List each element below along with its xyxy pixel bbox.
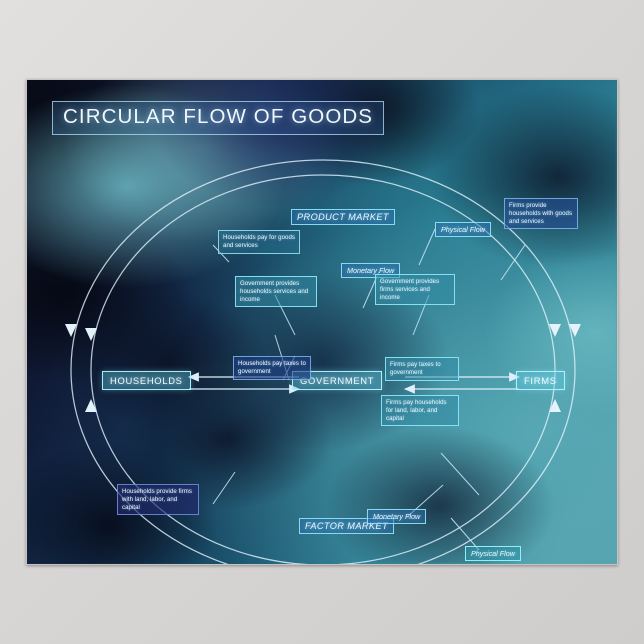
physical-flow-bottom-label: Physical Flow xyxy=(465,546,521,561)
callout-firms-provide-households: Firms provide households with goods and … xyxy=(504,198,578,229)
physical-flow-top-label: Physical Flow xyxy=(435,222,491,237)
callout-government-provides-firms: Government provides firms services and i… xyxy=(375,274,455,305)
callout-firms-pay-taxes: Firms pay taxes to government xyxy=(385,357,459,381)
page-title: CIRCULAR FLOW OF GOODS xyxy=(52,101,384,135)
callout-households-pay-taxes: Households pay taxes to government xyxy=(233,356,311,380)
poster-artwork: CIRCULAR FLOW OF GOODS PRODUCT MARKET FA… xyxy=(26,79,618,565)
callout-firms-pay-households: Firms pay households for land, labor, an… xyxy=(381,395,459,426)
monetary-flow-bottom-label: Monetary Flow xyxy=(367,509,426,524)
background-cloud-right xyxy=(27,80,617,564)
callout-households-pay-goods: Households pay for goods and services xyxy=(218,230,300,254)
callout-households-provide-firms: Households provide firms with land, labo… xyxy=(117,484,199,515)
product-market-label: PRODUCT MARKET xyxy=(291,209,395,225)
background-artwork xyxy=(27,80,617,564)
node-firms[interactable]: FIRMS xyxy=(516,371,565,390)
callout-government-provides-households: Government provides households services … xyxy=(235,276,317,307)
poster-canvas: CIRCULAR FLOW OF GOODS PRODUCT MARKET FA… xyxy=(0,0,644,644)
node-households[interactable]: HOUSEHOLDS xyxy=(102,371,191,390)
